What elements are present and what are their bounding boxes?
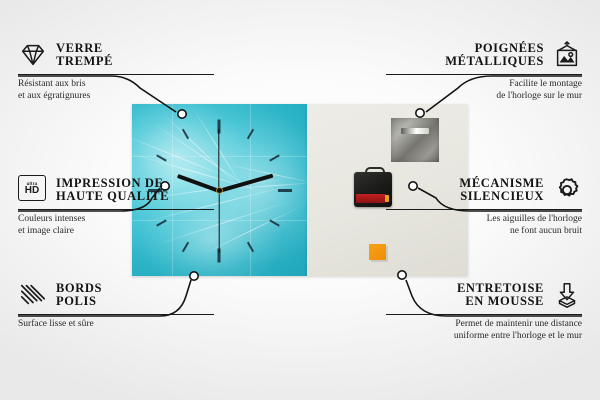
feature-header: POIGNÉES MÉTALLIQUES xyxy=(386,40,582,70)
foam-spacer xyxy=(369,244,386,260)
second-hand xyxy=(218,191,219,253)
feature-entretoise-en-mousse: ENTRETOISE EN MOUSSE Permet de maintenir… xyxy=(386,280,582,342)
feature-description: Surface lisse et sûre xyxy=(18,319,214,331)
feature-poignees-metalliques: POIGNÉES MÉTALLIQUES Facilite le montage… xyxy=(386,40,582,102)
feature-mecanisme-silencieux: MÉCANISME SILENCIEUX Les aiguilles de l'… xyxy=(386,175,582,237)
feature-title: ENTRETOISE EN MOUSSE xyxy=(457,282,544,309)
gear-icon xyxy=(552,175,582,205)
feature-description: Facilite le montage de l'horloge sur le … xyxy=(386,79,582,102)
feature-header: ultra HD IMPRESSION DE HAUTE QUALITÉ xyxy=(18,175,214,205)
feature-impression-haute-qualite: ultra HD IMPRESSION DE HAUTE QUALITÉ Cou… xyxy=(18,175,214,237)
framed-picture-hanging-icon xyxy=(552,40,582,70)
down-arrow-foam-icon xyxy=(552,280,582,310)
feature-header: ENTRETOISE EN MOUSSE xyxy=(386,280,582,310)
metal-hanger xyxy=(391,118,439,162)
feature-title: BORDS POLIS xyxy=(56,282,102,309)
feature-title: MÉCANISME SILENCIEUX xyxy=(459,177,544,204)
feature-header: BORDS POLIS xyxy=(18,280,214,310)
feature-description: Couleurs intenses et image claire xyxy=(18,214,214,237)
clock-pivot xyxy=(217,188,222,193)
minute-hand xyxy=(218,174,273,193)
feature-bords-polis: BORDS POLIS Surface lisse et sûre xyxy=(18,280,214,331)
feature-divider xyxy=(18,209,214,210)
feature-divider xyxy=(386,209,582,210)
battery xyxy=(356,194,386,203)
feature-title: IMPRESSION DE HAUTE QUALITÉ xyxy=(56,177,169,204)
feature-title: VERRE TREMPÉ xyxy=(56,42,113,69)
feature-title: POIGNÉES MÉTALLIQUES xyxy=(445,42,544,69)
diamond-icon xyxy=(18,40,48,70)
ultra-hd-icon: ultra HD xyxy=(18,175,48,205)
feature-description: Résistant aux bris et aux égratignures xyxy=(18,79,214,102)
hatch-lines-icon xyxy=(18,280,48,310)
infographic-canvas: VERRE TREMPÉ Résistant aux bris et aux é… xyxy=(0,0,600,400)
feature-divider xyxy=(18,314,214,315)
second-hand-tail xyxy=(218,129,219,191)
feature-description: Les aiguilles de l'horloge ne font aucun… xyxy=(386,214,582,237)
feature-divider xyxy=(386,314,582,315)
feature-verre-trempe: VERRE TREMPÉ Résistant aux bris et aux é… xyxy=(18,40,214,102)
feature-description: Permet de maintenir une distance uniform… xyxy=(386,319,582,342)
feature-header: VERRE TREMPÉ xyxy=(18,40,214,70)
feature-divider xyxy=(18,74,214,75)
feature-header: MÉCANISME SILENCIEUX xyxy=(386,175,582,205)
feature-divider xyxy=(386,74,582,75)
